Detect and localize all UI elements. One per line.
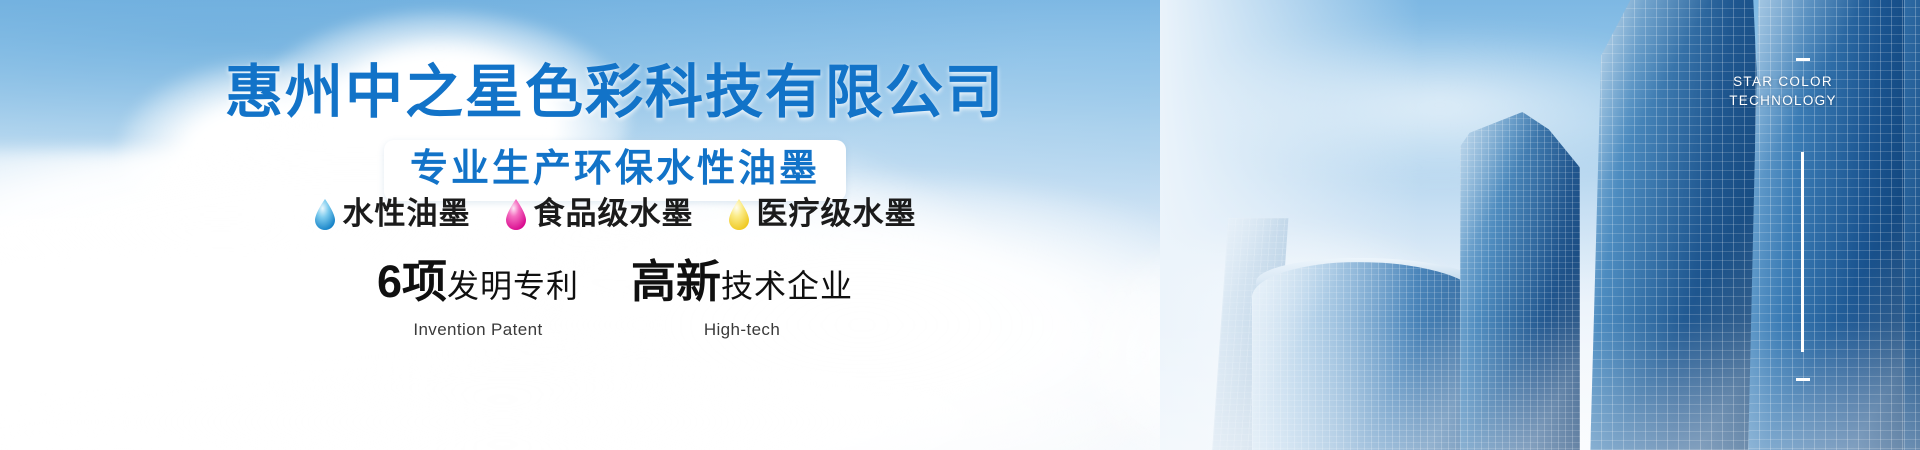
- tech-label: STAR COLOR TECHNOLOGY: [1698, 72, 1868, 110]
- tech-label-line1: STAR COLOR: [1698, 72, 1868, 91]
- feature-item-water-based-ink: 水性油墨: [314, 196, 471, 232]
- water-drop-icon: [728, 198, 750, 230]
- badge-strong-text: 高新: [631, 256, 721, 307]
- feature-label: 医疗级水墨: [757, 196, 917, 232]
- badge-list: 6项发明专利 Invention Patent 高新技术企业 High-tech: [0, 258, 1230, 340]
- badge-strong-text: 6项: [377, 256, 447, 307]
- feature-list: 水性油墨 食品级水墨: [0, 196, 1230, 232]
- feature-item-food-grade-ink: 食品级水墨: [505, 196, 694, 232]
- badge-english: Invention Patent: [377, 320, 579, 340]
- tech-tick-top: [1796, 58, 1810, 61]
- tech-label-line2: TECHNOLOGY: [1698, 91, 1868, 110]
- water-drop-icon: [314, 198, 336, 230]
- feature-label: 食品级水墨: [534, 196, 694, 232]
- feature-item-medical-grade-ink: 医疗级水墨: [728, 196, 917, 232]
- banner-content: 惠州中之星色彩科技有限公司 专业生产环保水性油墨 水性油墨: [0, 0, 1230, 450]
- skyscraper-photo: [1160, 0, 1920, 450]
- tech-tick-line: [1801, 152, 1804, 352]
- badge-high-tech: 高新技术企业 High-tech: [631, 258, 853, 340]
- subtitle-pill: 专业生产环保水性油墨: [384, 140, 846, 201]
- badge-chinese: 高新技术企业: [631, 258, 853, 317]
- promo-banner: STAR COLOR TECHNOLOGY Star Color 惠州中之星色彩…: [0, 0, 1920, 450]
- water-drop-icon: [505, 198, 527, 230]
- subtitle-pill-wrapper: 专业生产环保水性油墨: [0, 140, 1230, 201]
- badge-rest-text: 技术企业: [721, 268, 853, 304]
- company-title: 惠州中之星色彩科技有限公司: [0, 57, 1230, 129]
- tech-tick-bottom: [1796, 378, 1810, 381]
- skyline-haze-bottom: [1160, 320, 1920, 450]
- badge-rest-text: 发明专利: [447, 268, 579, 304]
- badge-invention-patent: 6项发明专利 Invention Patent: [377, 258, 579, 340]
- badge-chinese: 6项发明专利: [377, 258, 579, 317]
- feature-label: 水性油墨: [343, 196, 471, 232]
- badge-english: High-tech: [631, 320, 853, 340]
